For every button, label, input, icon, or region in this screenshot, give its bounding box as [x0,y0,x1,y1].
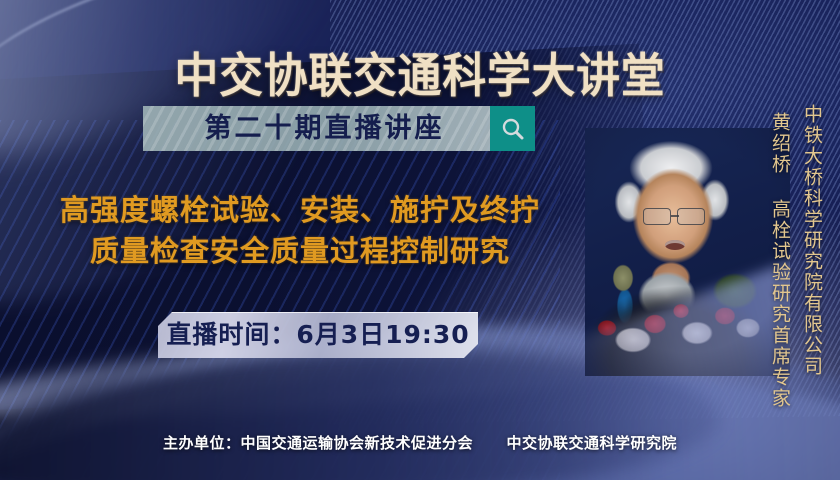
organizer-footer: 主办单位：中国交通运输协会新技术促进分会 中交协联交通科学研究院 [0,432,840,453]
topic-line-2: 质量检查安全质量过程控制研究 [10,231,590,272]
subtitle-banner: 第二十期直播讲座 [143,106,490,151]
broadcast-time-text: 直播时间：6月3日19:30 [158,312,478,358]
lecture-topic: 高强度螺栓试验、安装、施拧及终拧 质量检查安全质量过程控制研究 [10,190,590,272]
portrait-vignette-mask [585,128,790,376]
organizer-suffix: 中交协联交通科学研究院 [506,434,677,452]
topic-line-1: 高强度螺栓试验、安装、施拧及终拧 [60,193,540,227]
search-icon [500,116,526,142]
subtitle-text: 第二十期直播讲座 [143,106,490,151]
page-title: 中交协联交通科学大讲堂 [29,53,810,100]
live-lecture-poster: 中交协联交通科学大讲堂 第二十期直播讲座 高强度螺栓试验、安装、施拧及终拧 质量… [0,0,840,480]
search-icon-button[interactable] [490,106,535,151]
broadcast-time-badge: 直播时间：6月3日19:30 [158,312,478,358]
speaker-company: 中铁大桥科学研究院有限公司 [799,104,826,377]
organizer-prefix: 主办单位：中国交通运输协会新技术促进分会 [163,434,473,452]
speaker-portrait [585,128,790,376]
speaker-name-role: 黄绍桥 高栓试验研究首席专家 [767,112,794,409]
